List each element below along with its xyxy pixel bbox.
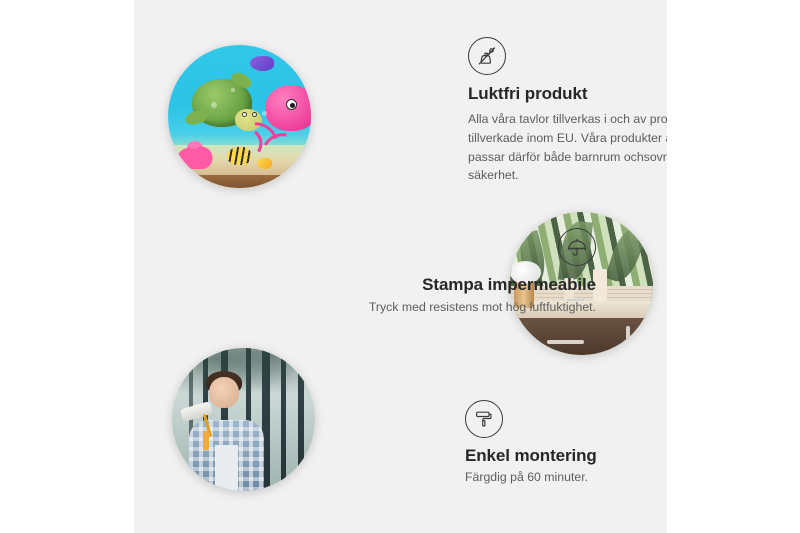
feature-easy-mounting: Enkel montering Färgdig på 60 minuter. — [465, 400, 667, 487]
product-image-painter — [172, 348, 315, 491]
yellow-striped-fish — [227, 147, 251, 166]
paint-roller-icon — [465, 400, 503, 438]
feature-odour-description: Alla våra tavlor tillverkas i och av pro… — [468, 110, 667, 185]
promo-page: Luktfri produkt Alla våra tavlor tillver… — [0, 0, 800, 533]
feature-waterproof-print: Stampa impermeabile Tryck med resistens … — [294, 228, 596, 317]
woman-face — [209, 377, 239, 408]
sea-mural-artwork — [168, 45, 311, 188]
coral-reef — [177, 132, 217, 169]
water-bubble — [231, 88, 235, 92]
no-odour-spray-bottle-icon — [468, 37, 506, 75]
feature-waterproof-title: Stampa impermeabile — [294, 274, 596, 295]
purple-fish — [250, 56, 274, 70]
woman-inner-shirt — [215, 445, 238, 491]
mural-bottom-frame — [168, 175, 311, 188]
forest-canopy — [172, 348, 315, 402]
feature-mounting-title: Enkel montering — [465, 445, 667, 466]
product-image-sea-mural — [168, 45, 311, 188]
feature-odour-title: Luktfri produkt — [468, 83, 667, 104]
painter-artwork — [172, 348, 315, 491]
umbrella-icon — [558, 228, 596, 266]
paint-roller-grip — [203, 431, 209, 450]
feature-mounting-description: Färgdig på 60 minuter. — [465, 468, 667, 487]
cabinet-door-handle — [626, 326, 630, 349]
cabinet-drawer-handle — [547, 340, 584, 344]
promo-panel: Luktfri produkt Alla våra tavlor tillver… — [134, 0, 667, 533]
umbrella-icon-wrapper — [294, 228, 596, 266]
feature-odour-free: Luktfri produkt Alla våra tavlor tillver… — [468, 37, 667, 185]
octopus-eye — [286, 99, 297, 110]
feature-waterproof-description: Tryck med resistens mot hög luftfuktighe… — [294, 298, 596, 317]
wooden-vanity-cabinet — [510, 318, 653, 355]
